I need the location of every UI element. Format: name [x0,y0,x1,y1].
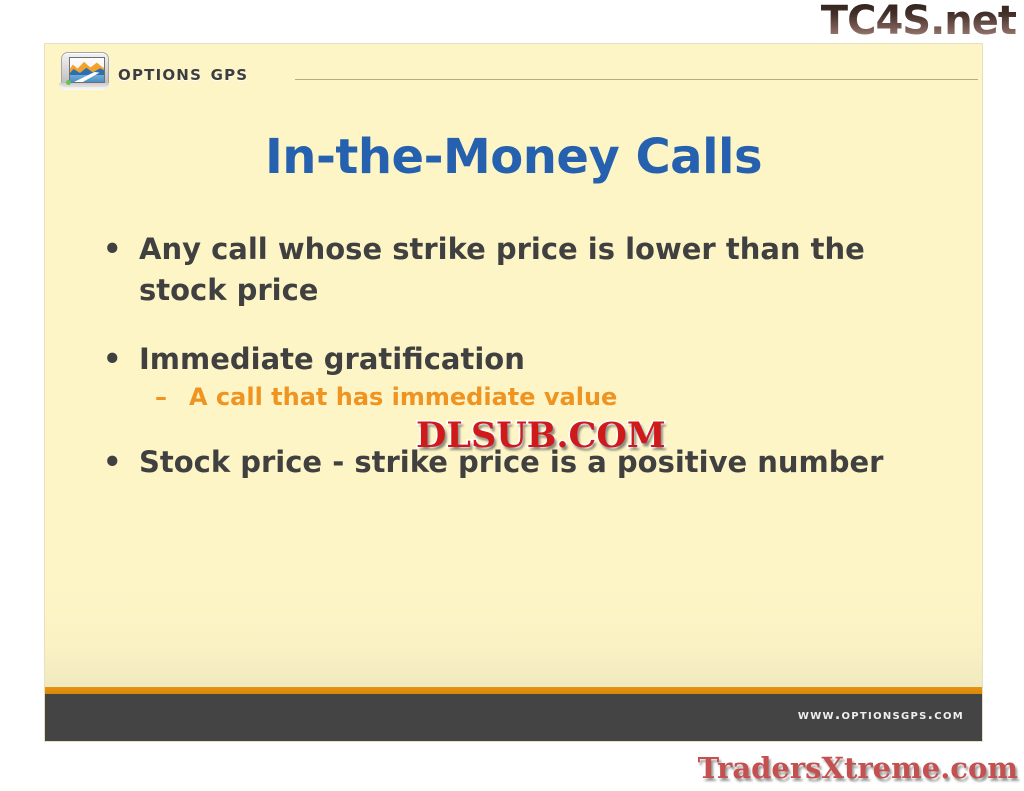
gps-device-screen [69,57,105,83]
watermark-dlsub: DLSUB.COM [416,415,666,456]
list-item-text: Immediate gratification [139,342,525,376]
page-title: In-the-Money Calls [45,129,982,185]
list-item: • Any call whose strike price is lower t… [93,229,929,311]
sub-bullet-marker: – [155,380,167,414]
bullet-marker: • [103,339,122,380]
list-item-text: Any call whose strike price is lower tha… [139,232,865,307]
header-divider [295,79,978,80]
footer-divider [45,687,982,694]
footer-url-label: www.OptionsGPS.com [798,707,964,723]
watermark-tradersxtreme: TradersXtreme.com [698,751,1018,785]
bullet-marker: • [103,229,122,270]
bullet-marker: • [103,442,122,483]
sub-list-item-text: A call that has immediate value [189,383,617,411]
watermark-tc4s: TC4S.net [821,0,1016,44]
spacer [93,311,943,339]
presentation-slide: Options GPS In-the-Money Calls • Any cal… [45,44,982,741]
brand-wordmark: Options GPS [118,61,248,85]
slide-header: Options GPS [45,44,982,98]
sub-list-item: – A call that has immediate value [93,380,943,414]
slide-footer: www.OptionsGPS.com [45,694,982,741]
gps-device-icon [59,52,109,93]
list-item: • Immediate gratification [93,339,929,380]
gps-device-led [66,80,71,85]
